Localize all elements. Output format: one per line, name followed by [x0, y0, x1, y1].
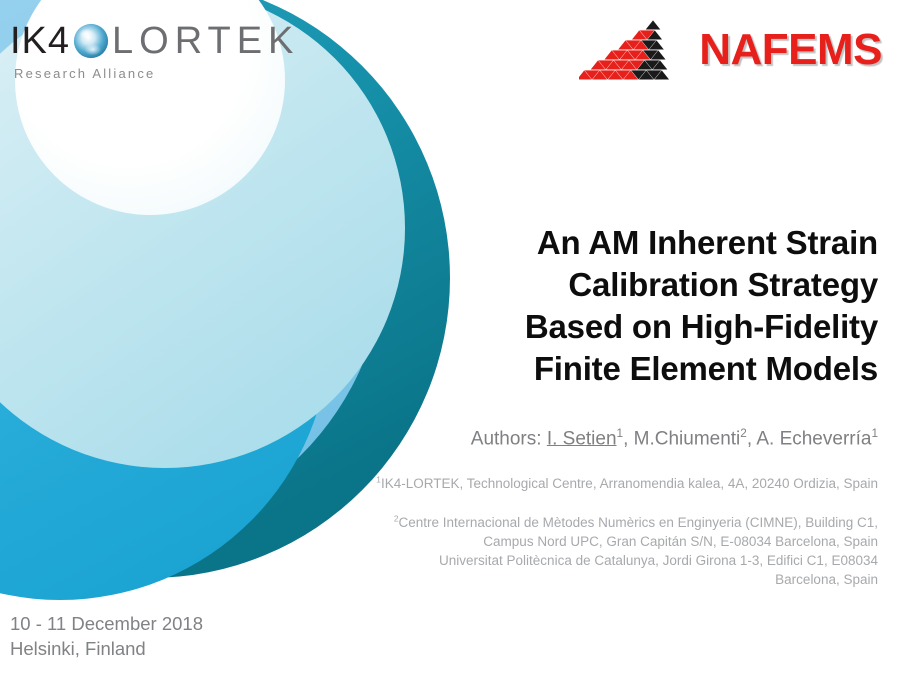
sphere-icon	[72, 22, 110, 60]
affiliation-2-line-1: Centre Internacional de Mètodes Numèrics…	[399, 515, 878, 530]
affiliation-1-text: IK4-LORTEK, Technological Centre, Arrano…	[381, 476, 878, 491]
triangle-mesh-icon	[579, 18, 697, 82]
lortek-wordmark: LORTEK	[112, 22, 299, 60]
title-line-4: Finite Element Models	[534, 350, 878, 387]
lortek-tagline: Research Alliance	[14, 66, 290, 81]
lortek-ik4-text: IK4	[10, 22, 70, 60]
author-2: , M.Chiumenti	[623, 428, 740, 449]
presenting-author: I. Setien	[547, 428, 617, 449]
event-info: 10 - 11 December 2018 Helsinki, Finland	[10, 612, 203, 661]
nafems-logo: NAFEMS	[579, 14, 882, 86]
authors-prefix: Authors:	[471, 428, 547, 449]
title-line-3: Based on High-Fidelity	[525, 308, 878, 345]
affiliation-2-line-4: Barcelona, Spain	[775, 572, 878, 587]
affiliation-1: 1IK4-LORTEK, Technological Centre, Arran…	[280, 474, 878, 493]
author-3: , A. Echeverría	[747, 428, 872, 449]
page-title: An AM Inherent Strain Calibration Strate…	[280, 222, 878, 390]
author-3-affil-marker: 1	[871, 427, 878, 440]
nafems-wordmark: NAFEMS	[699, 28, 882, 72]
ik4-lortek-logo: IK4	[10, 18, 290, 90]
event-location: Helsinki, Finland	[10, 637, 203, 661]
affiliation-2-line-3: Universitat Politècnica de Catalunya, Jo…	[439, 553, 878, 568]
title-line-2: Calibration Strategy	[568, 266, 878, 303]
presentation-slide: IK4	[0, 0, 900, 675]
affiliation-2-line-2: Campus Nord UPC, Gran Capitán S/N, E-080…	[483, 534, 878, 549]
authors-line: Authors: I. Setien1, M.Chiumenti2, A. Ec…	[280, 426, 878, 452]
slide-content: An AM Inherent Strain Calibration Strate…	[280, 222, 878, 589]
title-line-1: An AM Inherent Strain	[537, 224, 878, 261]
event-dates: 10 - 11 December 2018	[10, 612, 203, 636]
lortek-logo-row: IK4	[10, 18, 290, 64]
affiliation-2: 2Centre Internacional de Mètodes Numèric…	[280, 513, 878, 590]
